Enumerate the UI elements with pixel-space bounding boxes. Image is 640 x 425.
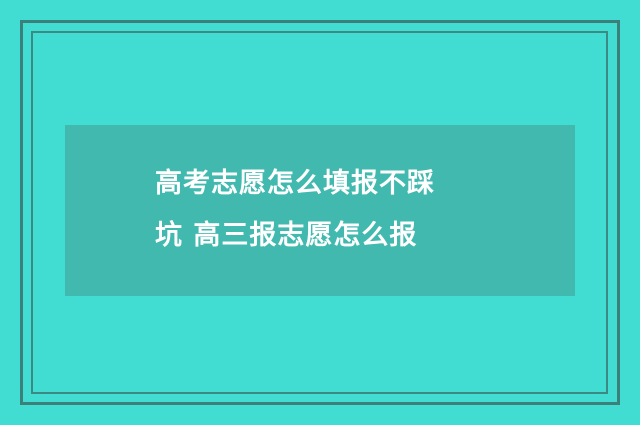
content-panel: 高考志愿怎么填报不踩 坑 高三报志愿怎么报 [65, 125, 575, 296]
poster-title: 高考志愿怎么填报不踩 坑 高三报志愿怎么报 [155, 158, 555, 262]
poster-canvas: 高考志愿怎么填报不踩 坑 高三报志愿怎么报 [0, 0, 640, 425]
poster-title-line-1: 高考志愿怎么填报不踩 [155, 158, 555, 210]
poster-title-line-2: 坑 高三报志愿怎么报 [155, 210, 555, 262]
